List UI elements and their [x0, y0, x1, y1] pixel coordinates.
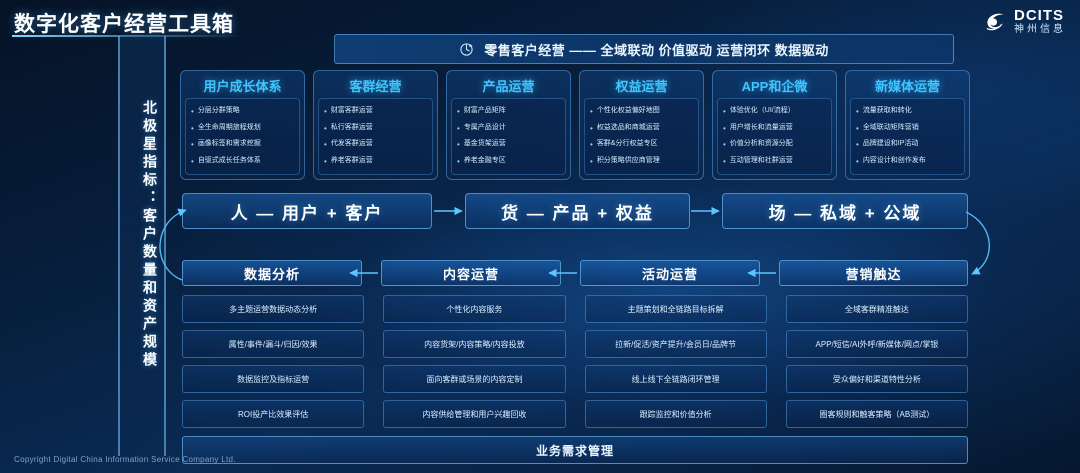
detail-cell[interactable]: 内容货架/内容策略/内容投放 — [383, 330, 565, 358]
card-bullet: 分层分群策略 — [189, 107, 296, 116]
capability-card[interactable]: 产品运营 财富产品矩阵 专属产品设计 基金货架运营 养老金融专区 — [446, 70, 571, 180]
section-header-campaign-ops[interactable]: 活动运营 — [580, 260, 760, 286]
card-bullet: 养老客群运营 — [322, 157, 429, 166]
card-bullet: 基金货架运营 — [455, 140, 562, 149]
card-bullet: 价值分析和资源分配 — [721, 140, 828, 149]
detail-cell[interactable]: 线上线下全链路闭环管理 — [585, 365, 767, 393]
detail-cell[interactable]: 面向客群或场景的内容定制 — [383, 365, 565, 393]
detail-cell[interactable]: 跟踪监控和价值分析 — [585, 400, 767, 428]
capability-card[interactable]: 权益运营 个性化权益偏好地图 权益选品和商城运营 客群&分行权益专区 积分策略供… — [579, 70, 704, 180]
card-bullet: 专属产品设计 — [455, 124, 562, 133]
card-body: 财富客群运营 私行客群运营 代发客群运营 养老客群运营 — [318, 98, 433, 175]
detail-cell[interactable]: 多主题运营数据动态分析 — [182, 295, 364, 323]
copyright-text: Copyright Digital China Information Serv… — [14, 455, 236, 464]
card-bullet: 画像标签和需求挖掘 — [189, 140, 296, 149]
card-bullet: 自驱式成长任务体系 — [189, 157, 296, 166]
card-bullet: 互动管理和社群运营 — [721, 157, 828, 166]
card-title: 新媒体运营 — [850, 76, 965, 98]
pill-row: 人 — 用户 + 客户 货 — 产品 + 权益 场 — 私域 + 公域 — [182, 193, 968, 229]
strategy-banner: 零售客户经营 —— 全域联动 价值驱动 运营闭环 数据驱动 — [334, 34, 954, 64]
slide-root: 数字化客户经营工具箱 DCITS 神州信息 北极星指标：客户数量和资产规模 零售… — [0, 0, 1080, 473]
pill-people[interactable]: 人 — 用户 + 客户 — [182, 193, 432, 229]
section-header-marketing-reach[interactable]: 营销触达 — [779, 260, 968, 286]
card-title: 客群经营 — [318, 76, 433, 98]
refresh-cycle-icon — [459, 42, 474, 57]
card-body: 流量获取和转化 全域联动矩阵营销 品牌建设和IP活动 内容设计和创作发布 — [850, 98, 965, 175]
card-bullet: 客群&分行权益专区 — [588, 140, 695, 149]
card-title: APP和企微 — [717, 76, 832, 98]
detail-column-content-ops: 个性化内容服务 内容货架/内容策略/内容投放 面向客群或场景的内容定制 内容供给… — [383, 295, 565, 428]
detail-column-data-analysis: 多主题运营数据动态分析 属性/事件/漏斗/归因/效果 数据监控及指标运营 ROI… — [182, 295, 364, 428]
card-bullet: 内容设计和创作发布 — [854, 157, 961, 166]
detail-cell[interactable]: ROI投产比效果评估 — [182, 400, 364, 428]
capability-card[interactable]: 用户成长体系 分层分群策略 全生命周期旅程规划 画像标签和需求挖掘 自驱式成长任… — [180, 70, 305, 180]
card-bullet: 养老金融专区 — [455, 157, 562, 166]
detail-cell[interactable]: 拉新/促活/资产提升/会员日/品牌节 — [585, 330, 767, 358]
card-body: 财富产品矩阵 专属产品设计 基金货架运营 养老金融专区 — [451, 98, 566, 175]
detail-cell[interactable]: 个性化内容服务 — [383, 295, 565, 323]
card-title: 用户成长体系 — [185, 76, 300, 98]
page-title: 数字化客户经营工具箱 — [14, 8, 234, 38]
detail-cell[interactable]: 全域客群精准触达 — [786, 295, 968, 323]
capability-card[interactable]: 客群经营 财富客群运营 私行客群运营 代发客群运营 养老客群运营 — [313, 70, 438, 180]
brand-name: DCITS — [1014, 8, 1066, 23]
card-body: 体验优化（UI/流程） 用户增长和流量运营 价值分析和资源分配 互动管理和社群运… — [717, 98, 832, 175]
detail-cell[interactable]: 数据监控及指标运营 — [182, 365, 364, 393]
pill-field[interactable]: 场 — 私域 + 公域 — [722, 193, 968, 229]
card-bullet: 财富客群运营 — [322, 107, 429, 116]
card-bullet: 积分策略供应商管理 — [588, 157, 695, 166]
detail-cell[interactable]: 属性/事件/漏斗/归因/效果 — [182, 330, 364, 358]
card-bullet: 权益选品和商城运营 — [588, 124, 695, 133]
card-bullet: 全域联动矩阵营销 — [854, 124, 961, 133]
section-header-data-analysis[interactable]: 数据分析 — [182, 260, 362, 286]
card-body: 个性化权益偏好地图 权益选品和商城运营 客群&分行权益专区 积分策略供应商管理 — [584, 98, 699, 175]
detail-grid: 多主题运营数据动态分析 属性/事件/漏斗/归因/效果 数据监控及指标运营 ROI… — [182, 295, 968, 428]
capability-card-row: 用户成长体系 分层分群策略 全生命周期旅程规划 画像标签和需求挖掘 自驱式成长任… — [180, 70, 970, 180]
card-bullet: 代发客群运营 — [322, 140, 429, 149]
card-bullet: 私行客群运营 — [322, 124, 429, 133]
detail-cell[interactable]: APP/短信/AI外呼/新媒体/网点/掌银 — [786, 330, 968, 358]
capability-card[interactable]: APP和企微 体验优化（UI/流程） 用户增长和流量运营 价值分析和资源分配 互… — [712, 70, 837, 180]
bottom-bar-business-demand[interactable]: 业务需求管理 — [182, 436, 968, 464]
capability-card[interactable]: 新媒体运营 流量获取和转化 全域联动矩阵营销 品牌建设和IP活动 内容设计和创作… — [845, 70, 970, 180]
card-title: 权益运营 — [584, 76, 699, 98]
arrow-loop-right — [966, 212, 989, 274]
card-bullet: 流量获取和转化 — [854, 107, 961, 116]
detail-cell[interactable]: 内容供给管理和用户兴趣回收 — [383, 400, 565, 428]
brand-logo: DCITS 神州信息 — [982, 8, 1066, 35]
section-header-content-ops[interactable]: 内容运营 — [381, 260, 561, 286]
section-header-row: 数据分析 内容运营 活动运营 营销触达 — [182, 260, 968, 286]
card-title: 产品运营 — [451, 76, 566, 98]
pill-goods[interactable]: 货 — 产品 + 权益 — [465, 193, 690, 229]
card-bullet: 用户增长和流量运营 — [721, 124, 828, 133]
card-bullet: 财富产品矩阵 — [455, 107, 562, 116]
detail-cell[interactable]: 受众偏好和渠道特性分析 — [786, 365, 968, 393]
dcits-swirl-logo-icon — [982, 9, 1008, 35]
detail-column-marketing-reach: 全域客群精准触达 APP/短信/AI外呼/新媒体/网点/掌银 受众偏好和渠道特性… — [786, 295, 968, 428]
strategy-banner-text: 零售客户经营 —— 全域联动 价值驱动 运营闭环 数据驱动 — [484, 40, 829, 59]
card-bullet: 全生命周期旅程规划 — [189, 124, 296, 133]
detail-cell[interactable]: 圈客规则和触客策略（AB测试） — [786, 400, 968, 428]
detail-column-campaign-ops: 主题策划和全链路目标拆解 拉新/促活/资产提升/会员日/品牌节 线上线下全链路闭… — [585, 295, 767, 428]
card-bullet: 个性化权益偏好地图 — [588, 107, 695, 116]
card-bullet: 品牌建设和IP活动 — [854, 140, 961, 149]
card-bullet: 体验优化（UI/流程） — [721, 107, 828, 116]
card-body: 分层分群策略 全生命周期旅程规划 画像标签和需求挖掘 自驱式成长任务体系 — [185, 98, 300, 175]
north-star-label: 北极星指标：客户数量和资产规模 — [124, 100, 160, 370]
detail-cell[interactable]: 主题策划和全链路目标拆解 — [585, 295, 767, 323]
brand-sub: 神州信息 — [1014, 25, 1066, 35]
